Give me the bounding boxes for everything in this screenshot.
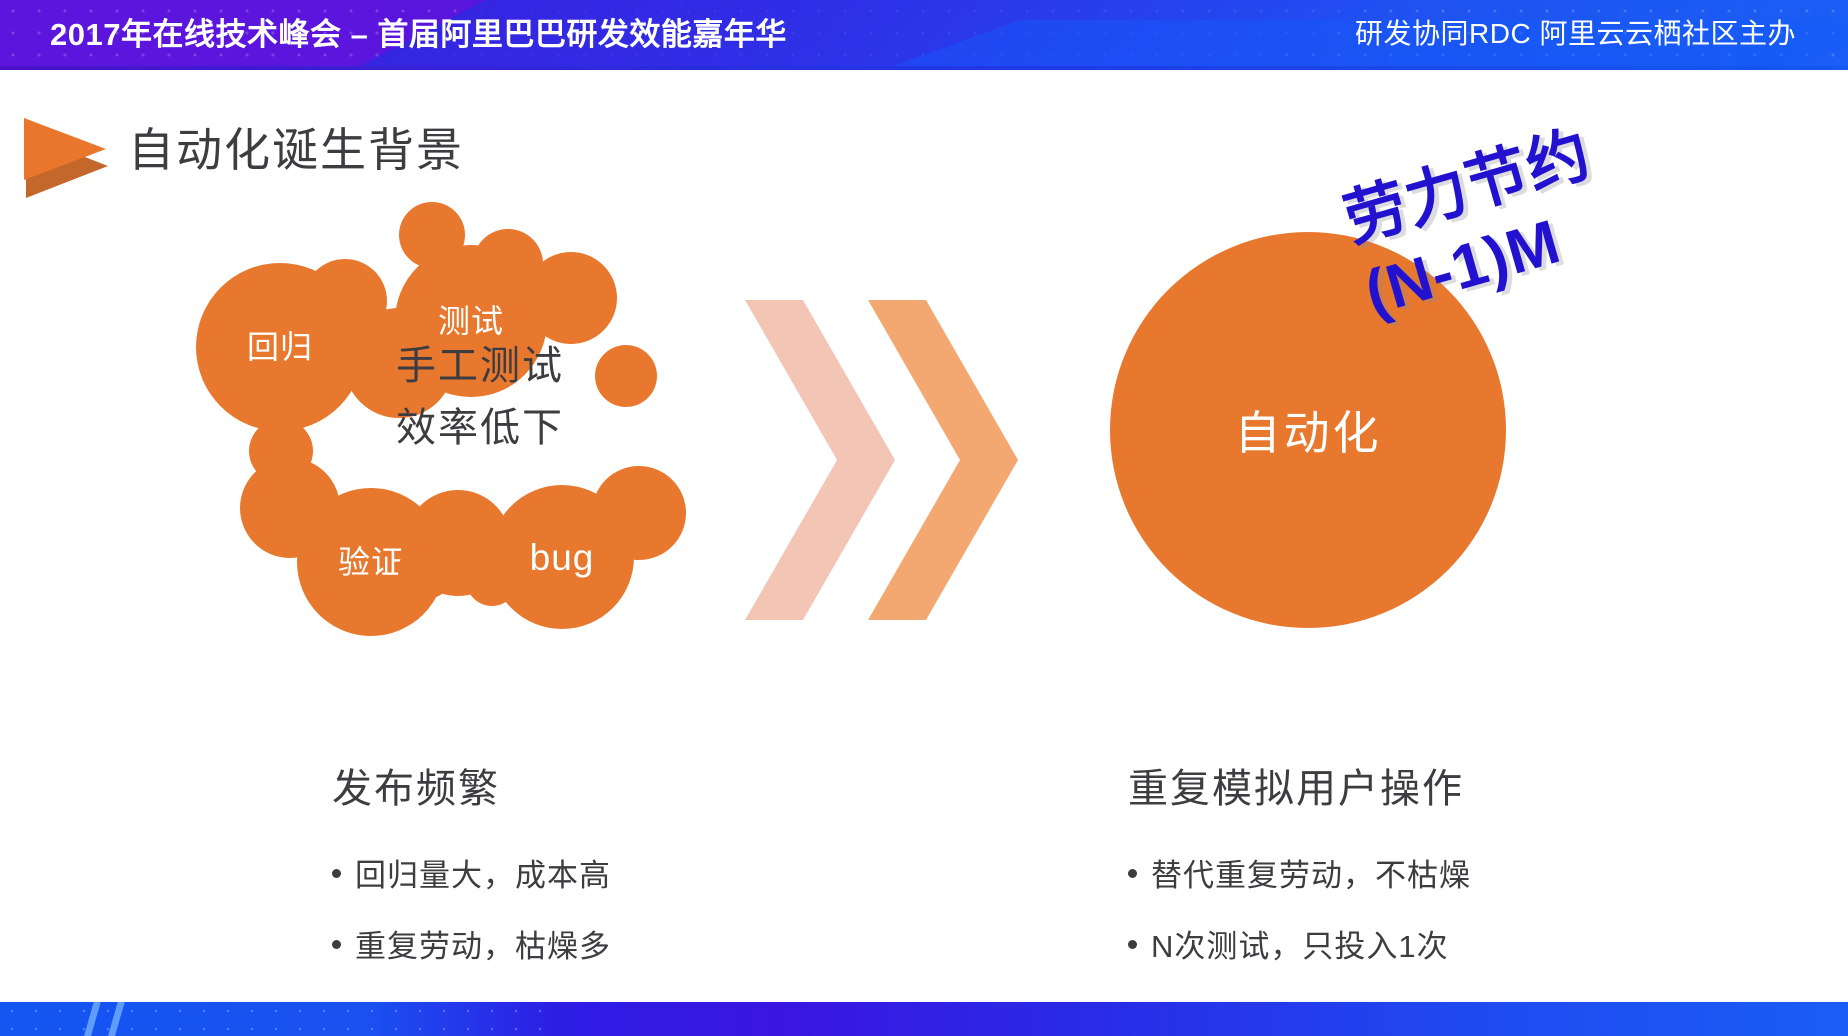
list-item: 回归量大，成本高 (332, 850, 611, 895)
bubble-label: bug (530, 539, 595, 576)
conference-title: 2017年在线技术峰会 – 首届阿里巴巴研发效能嘉年华 (50, 9, 787, 54)
slide-root: 2017年在线技术峰会 – 首届阿里巴巴研发效能嘉年华 研发协同RDC 阿里云云… (0, 0, 1848, 1036)
bullet-text: 回归量大，成本高 (355, 850, 611, 895)
manual-test-caption-line-1: 手工测试 (330, 335, 630, 397)
bullet-dot-icon (332, 940, 341, 949)
bubble-decorative-15 (592, 466, 686, 560)
bullet-text: 替代重复劳动，不枯燥 (1151, 850, 1471, 895)
list-item: 重复劳动，枯燥多 (332, 921, 611, 966)
bubble-label: 回归 (247, 331, 313, 363)
manual-test-caption-line-2: 效率低下 (330, 397, 630, 459)
bubble-decorative-12 (398, 543, 454, 599)
column-release-frequency: 发布频繁 回归量大，成本高 重复劳动，枯燥多 (332, 756, 611, 992)
column-heading: 发布频繁 (332, 756, 611, 814)
labor-saving-callout: 劳力节约 (N-1)M (1336, 117, 1620, 332)
bubble-label: 验证 (338, 546, 404, 578)
bubble-label: 测试 (438, 305, 504, 337)
bubble-decorative-6 (525, 252, 617, 344)
column-heading: 重复模拟用户操作 (1128, 756, 1471, 814)
bullet-text: N次测试，只投入1次 (1151, 921, 1449, 966)
bullet-dot-icon (1128, 869, 1137, 878)
organizer-title: 研发协同RDC 阿里云云栖社区主办 (1355, 12, 1796, 52)
list-item: N次测试，只投入1次 (1128, 921, 1471, 966)
bullet-text: 重复劳动，枯燥多 (355, 921, 611, 966)
footer-dot-pattern (0, 1002, 560, 1036)
list-item: 替代重复劳动，不枯燥 (1128, 850, 1471, 895)
bullet-dot-icon (1128, 940, 1137, 949)
chevron-arrow-dark-icon (868, 300, 1018, 620)
manual-test-caption: 手工测试 效率低下 (330, 335, 630, 459)
automation-circle-label: 自动化 (1235, 397, 1382, 463)
footer-bar (0, 1002, 1848, 1036)
column-repeat-simulation: 重复模拟用户操作 替代重复劳动，不枯燥 N次测试，只投入1次 (1128, 756, 1471, 992)
bullet-dot-icon (332, 869, 341, 878)
